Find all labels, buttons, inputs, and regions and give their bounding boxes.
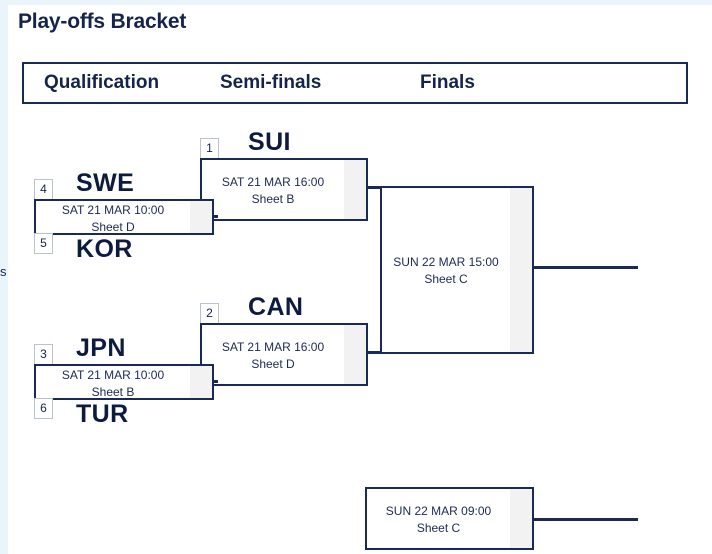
match-strip	[510, 489, 532, 548]
page-top-edge-tint	[8, 0, 712, 5]
match-strip	[344, 160, 366, 219]
seed-chip-qual-1-bottom: 5	[34, 233, 53, 254]
match-date: SUN 22 MAR 09:00	[367, 503, 510, 520]
seed-chip-semi-2: 2	[200, 303, 219, 324]
team-name-kor: KOR	[76, 235, 133, 264]
match-date: SAT 21 MAR 10:00	[36, 202, 190, 219]
team-name-jpn: JPN	[76, 334, 126, 363]
match-sheet: Sheet B	[202, 191, 344, 208]
team-name-swe: SWE	[76, 169, 134, 198]
match-date: SAT 21 MAR 10:00	[36, 367, 190, 384]
match-box-gold-final[interactable]: SUN 22 MAR 15:00 Sheet C	[380, 186, 534, 354]
connector-qual2-to-semi2	[214, 380, 218, 383]
team-name-tur: TUR	[76, 400, 129, 429]
round-label-finals: Finals	[420, 72, 475, 94]
match-strip	[344, 325, 366, 384]
seed-chip-semi-1: 1	[200, 138, 219, 159]
match-sheet: Sheet D	[36, 219, 190, 236]
match-strip	[190, 366, 212, 398]
seed-chip-qual-2-bottom: 6	[34, 398, 53, 419]
match-sheet: Sheet D	[202, 356, 344, 373]
match-strip	[510, 188, 532, 352]
match-date: SAT 21 MAR 16:00	[202, 339, 344, 356]
clipped-edge-glyph: s	[0, 264, 6, 279]
round-label-semi-finals: Semi-finals	[220, 72, 321, 94]
seed-chip-qual-1-top: 4	[34, 179, 53, 200]
connector-qual1-to-semi1	[214, 215, 218, 218]
team-name-can: CAN	[248, 293, 303, 322]
match-box-semi-2[interactable]: SAT 21 MAR 16:00 Sheet D	[200, 323, 368, 386]
match-sheet: Sheet C	[382, 271, 510, 288]
team-name-sui: SUI	[248, 128, 291, 157]
match-date: SUN 22 MAR 15:00	[382, 254, 510, 271]
match-box-semi-1[interactable]: SAT 21 MAR 16:00 Sheet B	[200, 158, 368, 221]
connector-gold-winner	[534, 266, 638, 269]
connector-bronze-winner	[534, 518, 638, 521]
match-date: SAT 21 MAR 16:00	[202, 174, 344, 191]
seed-chip-qual-2-top: 3	[34, 344, 53, 365]
match-box-bronze-final[interactable]: SUN 22 MAR 09:00 Sheet C	[365, 487, 534, 550]
match-sheet: Sheet C	[367, 520, 510, 537]
match-box-qual-2[interactable]: SAT 21 MAR 10:00 Sheet B	[34, 364, 214, 400]
round-header-bar: Qualification Semi-finals Finals	[22, 62, 688, 104]
page-title: Play-offs Bracket	[18, 10, 186, 34]
match-sheet: Sheet B	[36, 384, 190, 401]
round-label-qualification: Qualification	[44, 72, 159, 94]
match-box-qual-1[interactable]: SAT 21 MAR 10:00 Sheet D	[34, 199, 214, 235]
match-strip	[190, 201, 212, 233]
